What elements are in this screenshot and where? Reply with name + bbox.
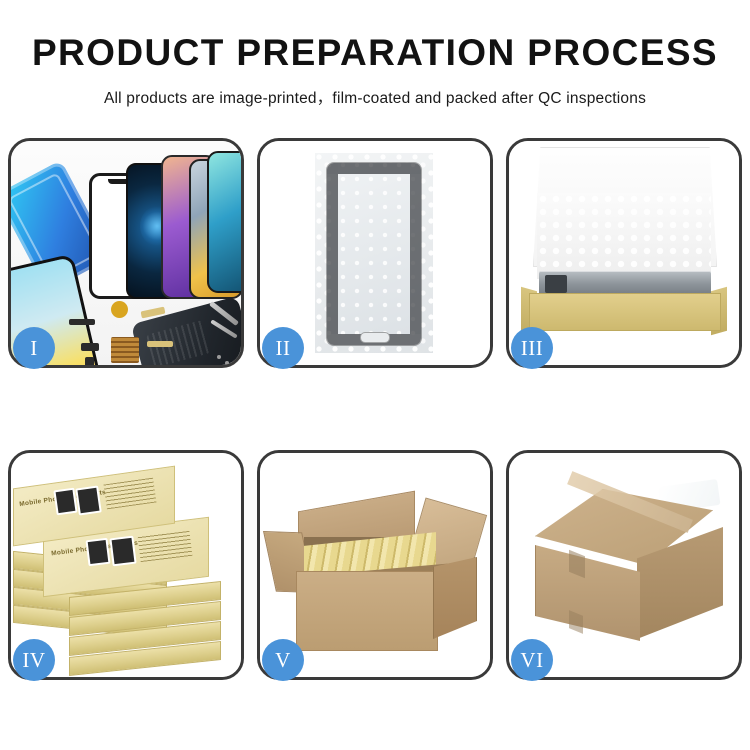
product-preparation-infographic: PRODUCT PREPARATION PROCESS All products… [0,0,750,750]
step-badge-1: I [13,327,55,369]
step-badge-5: V [262,639,304,681]
process-step-panel-6: VI [506,450,742,680]
small-ic-chip-icon [81,343,99,351]
bubble-wrap-sheet [315,153,433,353]
wrapped-phone-screen [327,163,421,345]
connector-grid-icon [111,337,139,363]
box-artwork-screen [75,486,102,516]
step-badge-6: VI [511,639,553,681]
process-step-panel-1: I [8,138,244,368]
speaker-strip-icon [69,319,95,325]
foam-padding [537,193,711,279]
header: PRODUCT PREPARATION PROCESS All products… [0,0,750,108]
process-step-panel-4: Mobile Phone Spare Parts Mobile Phone Sp… [8,450,244,680]
carton-front-face [296,571,438,651]
box-artwork-screen [85,538,110,566]
box-artwork-screen [53,488,77,516]
page-subtitle: All products are image-printed，film-coat… [0,86,750,108]
process-step-panel-2: II [257,138,493,368]
screw-icon [217,355,221,359]
carton-side-face [433,557,477,639]
box-artwork-screen [109,536,136,567]
step-badge-3: III [511,327,553,369]
vibration-motor-icon [111,301,128,318]
page-title: PRODUCT PREPARATION PROCESS [0,34,750,71]
camera-module-icon [85,357,94,365]
process-step-panel-5: V [257,450,493,680]
step-badge-2: II [262,327,304,369]
screw-icon [225,361,229,365]
process-step-panel-3: III [506,138,742,368]
teal-gradient-phone-icon [207,151,241,293]
volume-flex-cable-icon [147,341,173,347]
home-button-icon [360,332,390,343]
step-badge-4: IV [13,639,55,681]
process-steps-grid: I II III [8,138,742,680]
box-base [529,293,721,331]
